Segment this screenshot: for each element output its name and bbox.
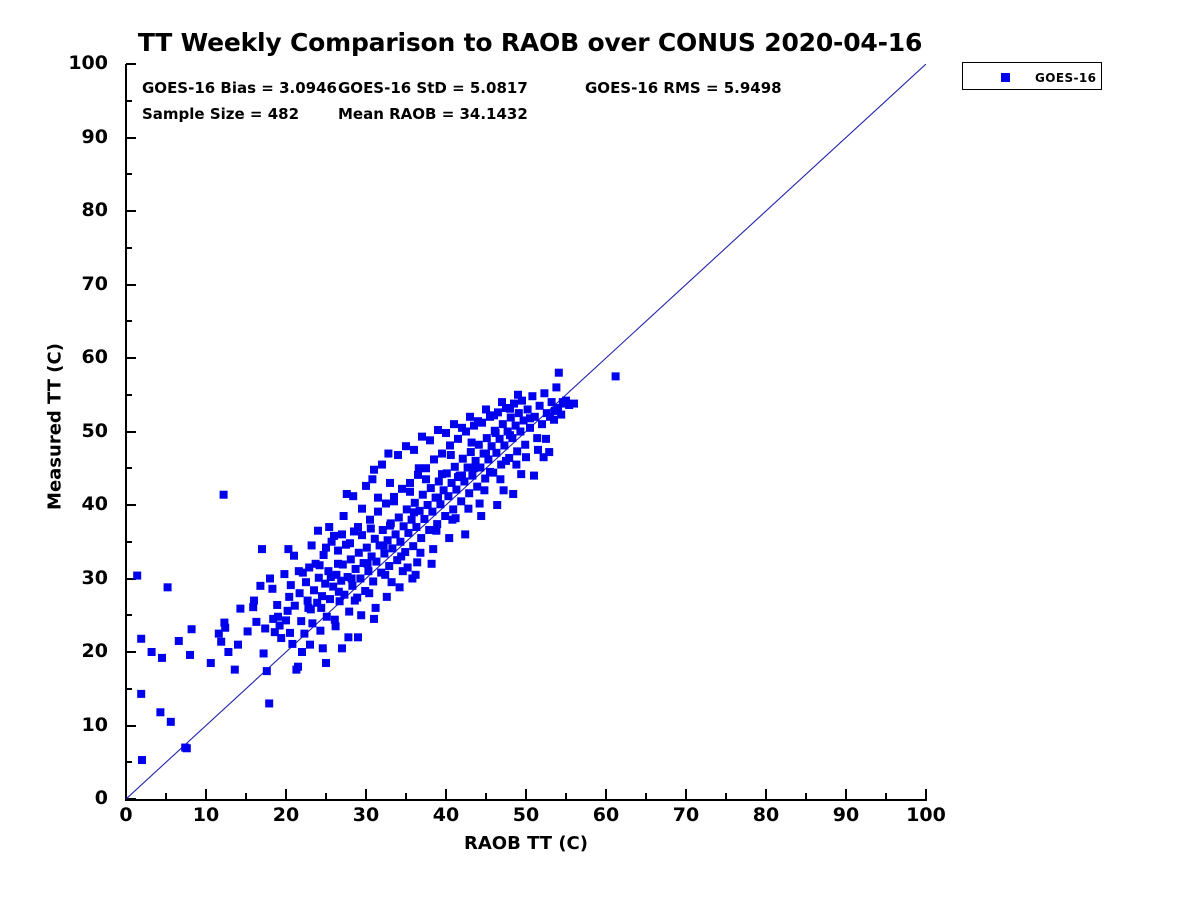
scatter-point <box>364 560 372 568</box>
scatter-point <box>290 552 298 560</box>
scatter-point <box>498 398 506 406</box>
scatter-point <box>288 640 296 648</box>
scatter-point <box>390 497 398 505</box>
x-tick-label: 50 <box>496 806 556 825</box>
scatter-point <box>470 464 478 472</box>
scatter-point <box>397 552 405 560</box>
scatter-point <box>381 571 389 579</box>
y-tick-label: 30 <box>82 569 108 588</box>
scatter-point <box>268 585 276 593</box>
scatter-point <box>280 570 288 578</box>
scatter-point <box>372 558 380 566</box>
scatter-point <box>137 635 145 643</box>
scatter-point <box>412 523 420 531</box>
scatter-point <box>294 663 302 671</box>
scatter-point <box>156 708 164 716</box>
scatter-point <box>338 644 346 652</box>
scatter-plot-area <box>126 64 926 799</box>
scatter-point <box>509 490 517 498</box>
scatter-point <box>396 583 404 591</box>
scatter-point <box>434 494 442 502</box>
scatter-point <box>450 420 458 428</box>
page-title: TT Weekly Comparison to RAOB over CONUS … <box>0 28 1060 57</box>
scatter-point <box>434 426 442 434</box>
scatter-point <box>492 429 500 437</box>
scatter-point <box>384 450 392 458</box>
scatter-point <box>334 560 342 568</box>
scatter-point <box>459 455 467 463</box>
scatter-point <box>555 369 563 377</box>
scatter-point <box>332 622 340 630</box>
scatter-point <box>515 409 523 417</box>
scatter-point <box>236 605 244 613</box>
scatter-point <box>358 505 366 513</box>
scatter-point <box>493 501 501 509</box>
scatter-point <box>207 659 215 667</box>
scatter-point <box>536 402 544 410</box>
scatter-point <box>468 439 476 447</box>
scatter-point <box>266 575 274 583</box>
scatter-point <box>426 436 434 444</box>
scatter-point <box>344 633 352 641</box>
scatter-point <box>287 581 295 589</box>
scatter-point <box>370 466 378 474</box>
x-tick-label: 20 <box>256 806 316 825</box>
scatter-point <box>221 624 229 632</box>
scatter-point <box>133 572 141 580</box>
scatter-point <box>250 597 258 605</box>
scatter-point <box>526 414 534 422</box>
scatter-point <box>260 649 268 657</box>
scatter-point <box>516 428 524 436</box>
scatter-point <box>410 508 418 516</box>
scatter-point <box>300 630 308 638</box>
scatter-point <box>302 578 310 586</box>
scatter-point <box>320 551 328 559</box>
x-tick-label: 30 <box>336 806 396 825</box>
scatter-point <box>277 634 285 642</box>
scatter-point <box>285 593 293 601</box>
scatter-point <box>346 539 354 547</box>
scatter-point <box>473 483 481 491</box>
scatter-point <box>338 530 346 538</box>
scatter-point <box>256 582 264 590</box>
scatter-point <box>273 601 281 609</box>
scatter-point <box>570 400 578 408</box>
scatter-point <box>422 475 430 483</box>
scatter-point <box>316 627 324 635</box>
scatter-point <box>358 531 366 539</box>
scatter-point <box>447 451 455 459</box>
scatter-point <box>458 472 466 480</box>
scatter-point <box>167 718 175 726</box>
scatter-point <box>217 638 225 646</box>
scatter-point <box>347 555 355 563</box>
scatter-point <box>351 597 359 605</box>
scatter-point <box>540 389 548 397</box>
scatter-point <box>441 512 449 520</box>
scatter-point <box>370 615 378 623</box>
y-tick-label: 90 <box>82 128 108 147</box>
scatter-point <box>345 608 353 616</box>
scatter-point <box>352 565 360 573</box>
scatter-point <box>512 461 520 469</box>
scatter-point <box>507 414 515 422</box>
scatter-point <box>428 508 436 516</box>
scatter-point <box>480 486 488 494</box>
scatter-point <box>357 611 365 619</box>
x-axis-line <box>125 799 927 801</box>
scatter-point <box>533 434 541 442</box>
scatter-point <box>521 441 529 449</box>
scatter-point <box>435 477 443 485</box>
scatter-point <box>425 526 433 534</box>
scatter-point <box>282 616 290 624</box>
scatter-point <box>316 561 324 569</box>
scatter-point <box>404 529 412 537</box>
scatter-point <box>540 453 548 461</box>
scatter-point <box>452 514 460 522</box>
scatter-point <box>522 453 530 461</box>
scatter-point <box>442 429 450 437</box>
scatter-point <box>356 575 364 583</box>
scatter-point <box>482 405 490 413</box>
scatter-point <box>502 457 510 465</box>
scatter-point <box>415 464 423 472</box>
scatter-point <box>244 627 252 635</box>
scatter-point <box>319 644 327 652</box>
scatter-point <box>474 417 482 425</box>
scatter-point <box>486 468 494 476</box>
y-tick-label: 20 <box>82 642 108 661</box>
scatter-point <box>220 491 228 499</box>
scatter-point <box>388 544 396 552</box>
scatter-point <box>265 699 273 707</box>
scatter-point <box>395 514 403 522</box>
scatter-point <box>388 578 396 586</box>
scatter-point <box>457 497 465 505</box>
y-tick-label: 80 <box>82 201 108 220</box>
scatter-point <box>261 624 269 632</box>
scatter-point <box>252 618 260 626</box>
scatter-point <box>542 435 550 443</box>
scatter-point <box>363 544 371 552</box>
scatter-point <box>297 617 305 625</box>
scatter-point <box>355 549 363 557</box>
scatter-point <box>530 472 538 480</box>
scatter-point <box>500 441 508 449</box>
scatter-point <box>451 463 459 471</box>
scatter-point <box>383 593 391 601</box>
x-tick-label: 70 <box>656 806 716 825</box>
scatter-point <box>340 512 348 520</box>
scatter-point <box>322 659 330 667</box>
scatter-point <box>392 530 400 538</box>
scatter-point <box>354 633 362 641</box>
scatter-point <box>148 648 156 656</box>
y-tick-label: 40 <box>82 495 108 514</box>
scatter-points-group <box>133 369 619 764</box>
scatter-point <box>399 567 407 575</box>
legend-label: GOES-16 <box>1035 71 1096 85</box>
scatter-point <box>499 420 507 428</box>
scatter-point <box>317 604 325 612</box>
scatter-point <box>464 505 472 513</box>
scatter-point <box>452 486 460 494</box>
scatter-point <box>318 592 326 600</box>
scatter-point <box>310 586 318 594</box>
scatter-point <box>374 494 382 502</box>
scatter-point <box>175 637 183 645</box>
y-tick-label: 50 <box>82 422 108 441</box>
scatter-point <box>417 534 425 542</box>
scatter-point <box>482 450 490 458</box>
scatter-point <box>325 523 333 531</box>
y-tick-label: 100 <box>68 54 108 73</box>
scatter-point <box>416 549 424 557</box>
scatter-point <box>449 505 457 513</box>
scatter-point <box>420 515 428 523</box>
scatter-point <box>413 558 421 566</box>
scatter-point <box>446 441 454 449</box>
scatter-point <box>490 411 498 419</box>
legend-marker-square-icon <box>1001 73 1010 82</box>
x-axis-title: RAOB TT (C) <box>126 833 926 854</box>
scatter-point <box>343 490 351 498</box>
scatter-point <box>385 562 393 570</box>
scatter-point <box>438 450 446 458</box>
scatter-point <box>466 413 474 421</box>
scatter-point <box>408 516 416 524</box>
y-tick-label: 10 <box>82 716 108 735</box>
scatter-point <box>438 470 446 478</box>
scatter-point <box>526 424 534 432</box>
scatter-point <box>403 505 411 513</box>
x-tick-label: 40 <box>416 806 476 825</box>
scatter-point <box>323 613 331 621</box>
scatter-point <box>402 442 410 450</box>
scatter-point <box>524 405 532 413</box>
scatter-point <box>428 560 436 568</box>
scatter-point <box>314 527 322 535</box>
scatter-point <box>295 567 303 575</box>
scatter-point <box>372 604 380 612</box>
scatter-point <box>444 492 452 500</box>
scatter-point <box>398 485 406 493</box>
scatter-point <box>432 527 440 535</box>
scatter-point <box>410 446 418 454</box>
scatter-point <box>326 595 334 603</box>
scatter-point <box>291 602 299 610</box>
scatter-point <box>538 420 546 428</box>
scatter-point <box>461 530 469 538</box>
scatter-point <box>164 583 172 591</box>
scatter-point <box>429 545 437 553</box>
scatter-point <box>304 604 312 612</box>
scatter-point <box>354 523 362 531</box>
scatter-point <box>506 431 514 439</box>
scatter-point <box>406 479 414 487</box>
scatter-point <box>258 545 266 553</box>
scatter-point <box>483 434 491 442</box>
scatter-point <box>430 455 438 463</box>
scatter-point <box>234 641 242 649</box>
scatter-point <box>475 441 483 449</box>
scatter-point <box>308 619 316 627</box>
scatter-point <box>380 541 388 549</box>
scatter-point <box>528 392 536 400</box>
scatter-point <box>308 541 316 549</box>
scatter-point <box>467 448 475 456</box>
scatter-point <box>559 398 567 406</box>
scatter-point <box>322 544 330 552</box>
scatter-point <box>186 651 194 659</box>
scatter-point <box>327 573 335 581</box>
scatter-point <box>158 654 166 662</box>
x-tick-label: 100 <box>896 806 956 825</box>
scatter-point <box>286 629 294 637</box>
scatter-point <box>382 500 390 508</box>
scatter-point <box>422 464 430 472</box>
scatter-point <box>409 542 417 550</box>
scatter-point <box>330 532 338 540</box>
figure-canvas: TT Weekly Comparison to RAOB over CONUS … <box>0 0 1200 900</box>
scatter-point <box>367 525 375 533</box>
x-tick-label: 0 <box>96 806 156 825</box>
scatter-point <box>427 484 435 492</box>
legend[interactable]: GOES-16 <box>962 62 1102 90</box>
scatter-point <box>137 690 145 698</box>
scatter-point <box>396 538 404 546</box>
scatter-point <box>534 446 542 454</box>
scatter-point <box>379 526 387 534</box>
scatter-point <box>506 405 514 413</box>
scatter-point <box>366 516 374 524</box>
y-tick-label: 70 <box>82 275 108 294</box>
scatter-point <box>468 472 476 480</box>
y-axis-title: Measured TT (C) <box>45 327 66 527</box>
scatter-point <box>298 648 306 656</box>
scatter-point <box>476 500 484 508</box>
scatter-point <box>368 475 376 483</box>
scatter-point <box>458 424 466 432</box>
scatter-point <box>477 512 485 520</box>
scatter-point <box>231 666 239 674</box>
scatter-point <box>374 508 382 516</box>
scatter-point <box>513 447 521 455</box>
scatter-point <box>369 577 377 585</box>
x-tick-label: 60 <box>576 806 636 825</box>
x-tick-label: 10 <box>176 806 236 825</box>
scatter-point <box>284 607 292 615</box>
scatter-point <box>394 451 402 459</box>
scatter-point <box>445 534 453 542</box>
scatter-point <box>348 582 356 590</box>
scatter-point <box>492 449 500 457</box>
scatter-point <box>406 488 414 496</box>
scatter-point <box>386 479 394 487</box>
scatter-point <box>552 383 560 391</box>
scatter-point <box>365 589 373 597</box>
x-tick-label: 90 <box>816 806 876 825</box>
scatter-point <box>183 744 191 752</box>
scatter-point <box>465 489 473 497</box>
scatter-point <box>296 589 304 597</box>
x-tick-label: 80 <box>736 806 796 825</box>
scatter-point <box>411 499 419 507</box>
scatter-point <box>188 625 196 633</box>
scatter-point <box>378 461 386 469</box>
scatter-point <box>224 648 232 656</box>
scatter-point <box>454 435 462 443</box>
scatter-point <box>274 613 282 621</box>
scatter-point <box>496 475 504 483</box>
scatter-point <box>386 522 394 530</box>
scatter-point <box>335 588 343 596</box>
scatter-point <box>517 470 525 478</box>
scatter-point <box>612 372 620 380</box>
scatter-point <box>380 550 388 558</box>
scatter-point <box>418 433 426 441</box>
scatter-point <box>348 575 356 583</box>
y-tick-label: 60 <box>82 348 108 367</box>
scatter-point <box>364 567 372 575</box>
scatter-point <box>419 491 427 499</box>
scatter-point <box>263 667 271 675</box>
scatter-point <box>412 571 420 579</box>
scatter-point <box>304 597 312 605</box>
scatter-point <box>138 756 146 764</box>
scatter-point <box>334 547 342 555</box>
scatter-point <box>306 641 314 649</box>
scatter-point <box>500 486 508 494</box>
scatter-point <box>514 391 522 399</box>
